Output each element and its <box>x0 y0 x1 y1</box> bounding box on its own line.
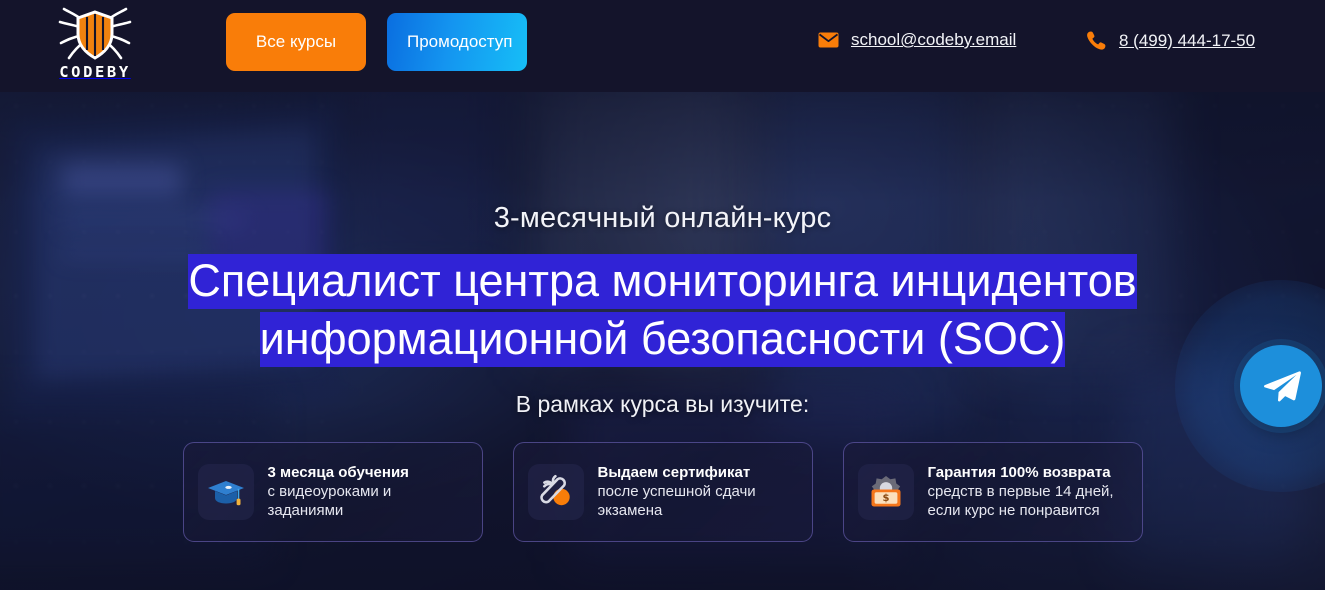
graduation-cap-icon <box>198 464 254 520</box>
feature-card-text: Гарантия 100% возврата средств в первые … <box>928 463 1130 520</box>
feature-card-desc: средств в первые 14 дней, если курс не п… <box>928 482 1130 520</box>
hero-content: 3-месячный онлайн-курс Специалист центра… <box>0 92 1325 590</box>
feature-card-text: 3 месяца обучения с видеоуроками и задан… <box>268 463 470 520</box>
svg-text:$: $ <box>882 493 889 504</box>
phone-icon <box>1086 30 1107 51</box>
contact-email-text: school@codeby.email <box>851 30 1016 50</box>
promo-access-button[interactable]: Промодоступ <box>387 13 527 71</box>
money-back-icon: $ <box>858 464 914 520</box>
telegram-paper-plane-icon <box>1260 369 1302 403</box>
feature-card-certificate[interactable]: Выдаем сертификат после успешной сдачи э… <box>513 442 813 542</box>
feature-card-duration[interactable]: 3 месяца обучения с видеоуроками и задан… <box>183 442 483 542</box>
feature-card-title: Гарантия 100% возврата <box>928 463 1130 482</box>
telegram-chat-button[interactable] <box>1240 345 1322 427</box>
headline-line-1: Специалист центра мониторинга инцидентов <box>188 254 1136 309</box>
envelope-icon <box>818 32 839 48</box>
hero-section: 3-месячный онлайн-курс Специалист центра… <box>0 92 1325 590</box>
hero-eyebrow: 3-месячный онлайн-курс <box>494 203 832 235</box>
contact-phone[interactable]: 8 (499) 444-17-50 <box>1086 30 1255 51</box>
brand-wordmark: CODEBY <box>59 65 131 81</box>
contact-email[interactable]: school@codeby.email <box>818 30 1016 50</box>
page-root: CODEBY Все курсы Промодоступ school@code… <box>0 0 1325 590</box>
feature-card-desc: после успешной сдачи экзамена <box>598 482 800 520</box>
spider-shield-icon <box>57 6 133 64</box>
feature-card-title: 3 месяца обучения <box>268 463 470 482</box>
telegram-fab-wrapper <box>1161 266 1325 506</box>
hero-subhead: В рамках курса вы изучите: <box>516 391 809 418</box>
feature-card-desc: с видеоуроками и заданиями <box>268 482 470 520</box>
site-header: CODEBY Все курсы Промодоступ school@code… <box>0 0 1325 92</box>
contact-phone-text: 8 (499) 444-17-50 <box>1119 31 1255 51</box>
feature-card-text: Выдаем сертификат после успешной сдачи э… <box>598 463 800 520</box>
feature-card-guarantee[interactable]: $ Гарантия 100% возврата средств в первы… <box>843 442 1143 542</box>
headline-line-2: информационной безопасности (SOC) <box>260 312 1066 367</box>
feature-card-list: 3 месяца обучения с видеоуроками и задан… <box>183 442 1143 542</box>
all-courses-button[interactable]: Все курсы <box>226 13 366 71</box>
page-title: Специалист центра мониторинга инцидентов… <box>103 252 1223 368</box>
feature-card-title: Выдаем сертификат <box>598 463 800 482</box>
brand-logo[interactable]: CODEBY <box>48 6 142 84</box>
certificate-icon <box>528 464 584 520</box>
